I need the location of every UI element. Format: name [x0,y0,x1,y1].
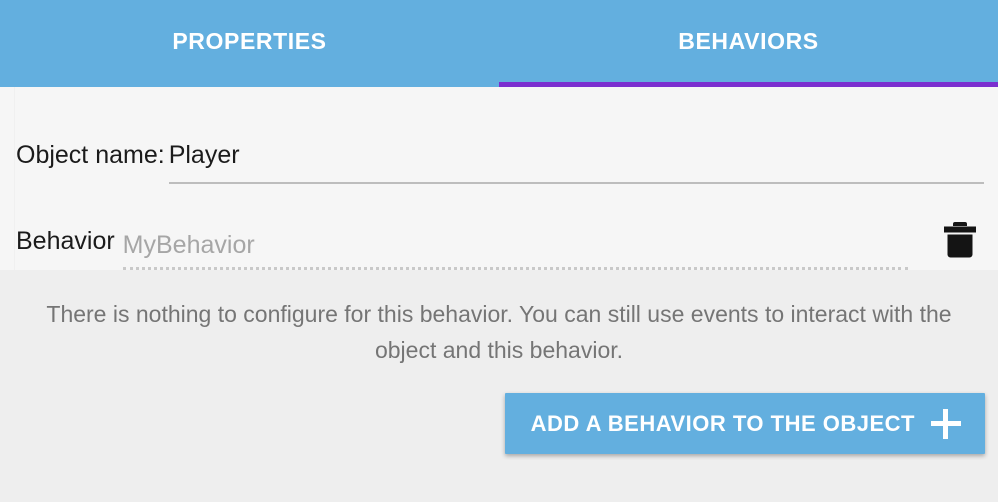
object-name-value: Player [169,143,984,168]
object-editor-panel: PROPERTIES BEHAVIORS Object name: Player… [0,0,998,502]
trash-icon [943,221,977,259]
behavior-name-placeholder: MyBehavior [123,233,908,258]
behavior-content-area: There is nothing to configure for this b… [0,270,998,502]
tab-bar: PROPERTIES BEHAVIORS [0,0,998,87]
plus-icon [931,409,961,439]
behavior-row: Behavior MyBehavior [0,184,998,270]
behavior-name-input[interactable]: MyBehavior [123,233,908,270]
left-divider [14,87,15,270]
empty-state-message: There is nothing to configure for this b… [0,270,998,368]
object-name-row: Object name: Player [0,87,998,184]
add-behavior-to-object-button[interactable]: ADD A BEHAVIOR TO THE OBJECT [505,393,985,454]
add-behavior-button-label: ADD A BEHAVIOR TO THE OBJECT [531,411,915,437]
tab-properties-label: PROPERTIES [172,30,326,57]
behavior-label: Behavior [16,229,115,270]
object-name-label: Object name: [16,143,165,184]
tab-behaviors-label: BEHAVIORS [678,30,818,57]
form-section: Object name: Player Behavior MyBehavior [0,87,998,270]
tab-properties[interactable]: PROPERTIES [0,0,499,87]
tab-behaviors[interactable]: BEHAVIORS [499,0,998,87]
add-behavior-button-wrap: ADD A BEHAVIOR TO THE OBJECT [505,393,985,454]
object-name-input[interactable]: Player [169,143,984,184]
delete-behavior-button[interactable] [936,216,984,264]
